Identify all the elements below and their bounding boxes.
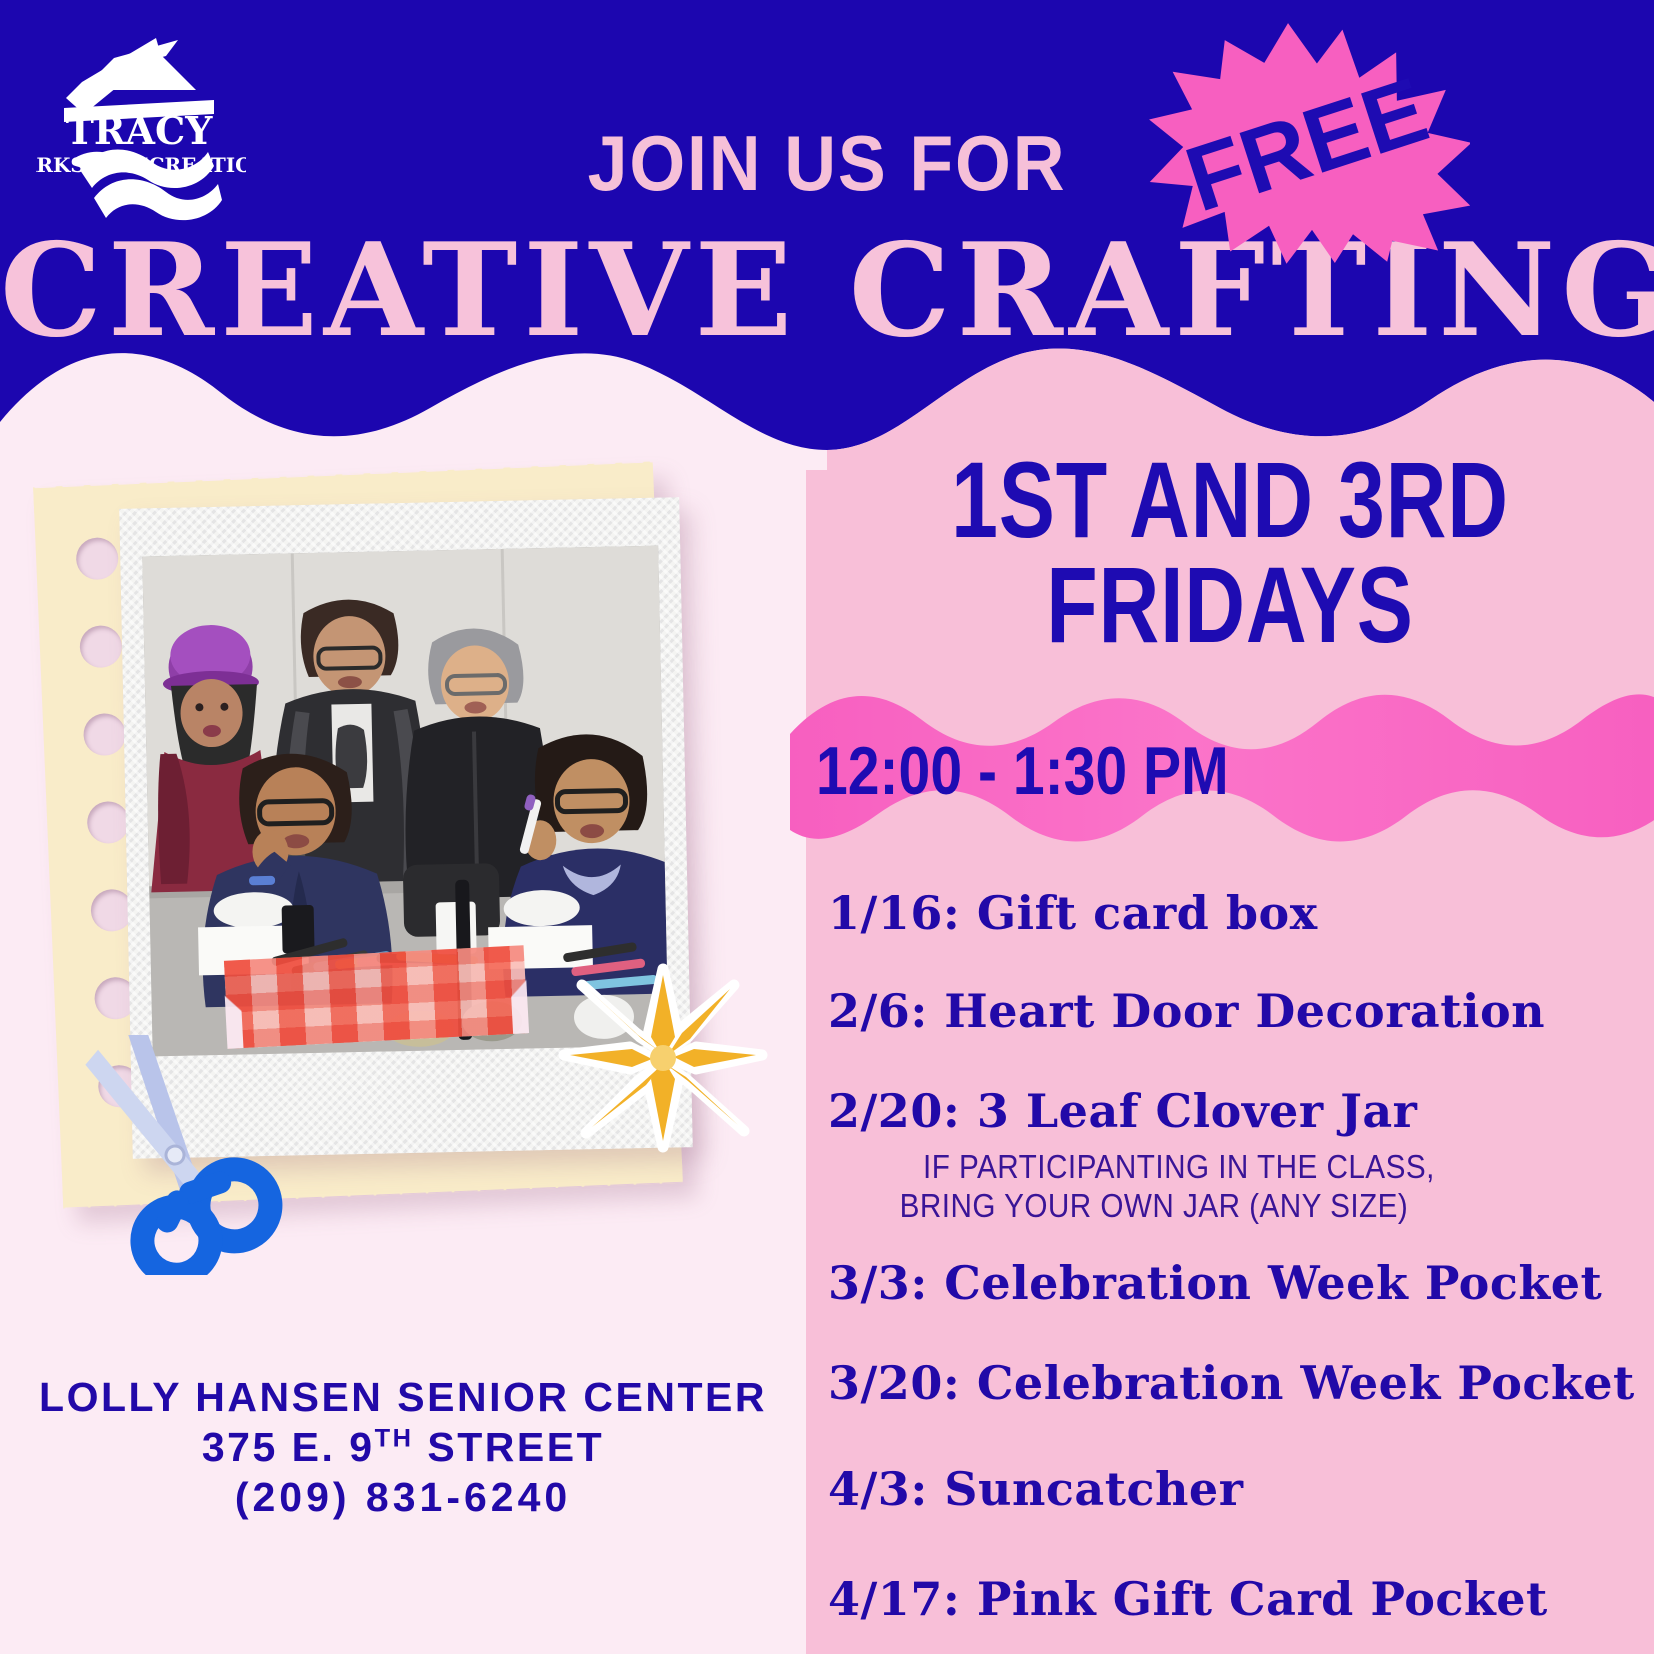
photo-collage bbox=[30, 455, 750, 1235]
schedule-item: 3/20: Celebration Week Pocket bbox=[806, 1356, 1654, 1410]
schedule-list: 1/16: Gift card box 2/6: Heart Door Deco… bbox=[806, 880, 1654, 1626]
schedule-item-note-line2: BRING YOUR OWN JAR (ANY SIZE) bbox=[806, 1187, 1569, 1226]
gold-sparkle-star-icon bbox=[558, 963, 768, 1153]
venue-street-suffix: TH bbox=[375, 1424, 414, 1452]
venue-street-number: 375 E. 9 bbox=[202, 1424, 375, 1470]
meeting-days-line1: 1ST AND 3RD bbox=[899, 448, 1560, 553]
scissors-icon bbox=[50, 1035, 300, 1275]
class-time: 12:00 - 1:30 PM bbox=[816, 732, 1404, 810]
schedule-item: 4/3: Suncatcher bbox=[806, 1462, 1654, 1516]
venue-street-rest: STREET bbox=[413, 1424, 604, 1470]
venue-street: 375 E. 9TH STREET bbox=[0, 1422, 806, 1472]
schedule-item: 4/17: Pink Gift Card Pocket bbox=[806, 1572, 1654, 1626]
venue-phone[interactable]: (209) 831-6240 bbox=[0, 1472, 806, 1522]
time-banner: 12:00 - 1:30 PM bbox=[790, 690, 1654, 850]
schedule-item-note-line1: IF PARTICIPANTING IN THE CLASS, bbox=[806, 1148, 1569, 1187]
free-starburst-badge: FREE bbox=[1140, 14, 1470, 274]
schedule-item: 3/3: Celebration Week Pocket bbox=[806, 1256, 1654, 1310]
gingham-washi-tape bbox=[224, 945, 528, 1049]
venue-address-block: LOLLY HANSEN SENIOR CENTER 375 E. 9TH ST… bbox=[0, 1372, 806, 1522]
header-banner: TRACY PARKS & RECREATION JOIN US FOR CRE… bbox=[0, 0, 1654, 470]
schedule-item: 2/6: Heart Door Decoration bbox=[806, 984, 1654, 1038]
venue-name: LOLLY HANSEN SENIOR CENTER bbox=[0, 1372, 806, 1422]
meeting-days-line2: FRIDAYS bbox=[899, 553, 1560, 658]
flyer-poster: TRACY PARKS & RECREATION JOIN US FOR CRE… bbox=[0, 0, 1654, 1654]
schedule-item: 1/16: Gift card box bbox=[806, 886, 1654, 940]
schedule-item: 2/20: 3 Leaf Clover Jar bbox=[806, 1084, 1654, 1138]
meeting-days-heading: 1ST AND 3RD FRIDAYS bbox=[899, 448, 1560, 658]
